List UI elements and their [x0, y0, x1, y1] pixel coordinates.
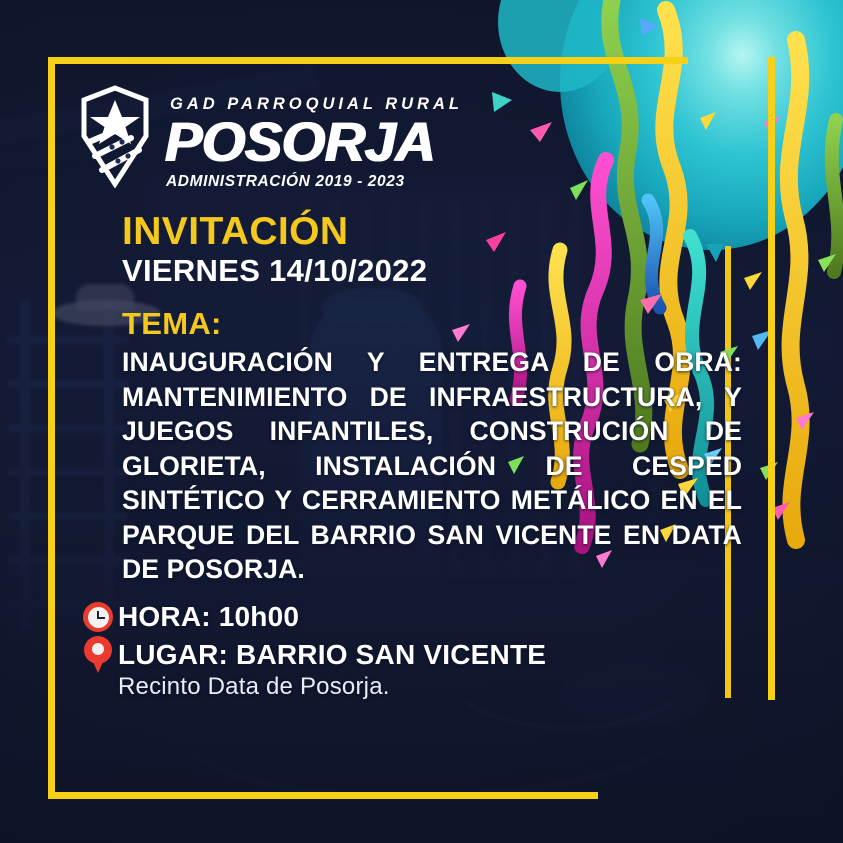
time-row: HORA: 10h00: [78, 598, 678, 636]
shield-star-icon: [76, 84, 154, 188]
poster-content: GAD PARROQUIAL RURAL POSORJA ADMINISTRAC…: [0, 0, 843, 843]
event-details: HORA: 10h00 LUGAR: BARRIO SAN VICENTE Re…: [78, 598, 678, 704]
time-text: HORA: 10h00: [118, 601, 299, 633]
invitation-poster: GAD PARROQUIAL RURAL POSORJA ADMINISTRAC…: [0, 0, 843, 843]
place-text: LUGAR: BARRIO SAN VICENTE: [118, 639, 546, 671]
topic-description: INAUGURACIÓN Y ENTREGA DE OBRA: MANTENIM…: [122, 345, 742, 587]
invitation-date: VIERNES 14/10/2022: [122, 252, 427, 289]
topic-label: TEMA:: [122, 308, 222, 339]
invitation-title: INVITACIÓN: [122, 212, 348, 251]
logo-wordmark: GAD PARROQUIAL RURAL POSORJA ADMINISTRAC…: [162, 82, 462, 190]
organization-logo: GAD PARROQUIAL RURAL POSORJA ADMINISTRAC…: [76, 82, 386, 190]
venue-text: Recinto Data de Posorja.: [118, 673, 390, 701]
map-pin-icon: [78, 636, 118, 674]
place-row: LUGAR: BARRIO SAN VICENTE: [78, 636, 678, 674]
logo-line-posorja: POSORJA: [164, 115, 462, 170]
clock-icon: [78, 602, 118, 632]
logo-line-administracion: ADMINISTRACIÓN 2019 - 2023: [166, 174, 462, 190]
topic-description-text: INAUGURACIÓN Y ENTREGA DE OBRA: MANTENIM…: [122, 347, 742, 584]
venue-row: Recinto Data de Posorja.: [78, 670, 678, 704]
